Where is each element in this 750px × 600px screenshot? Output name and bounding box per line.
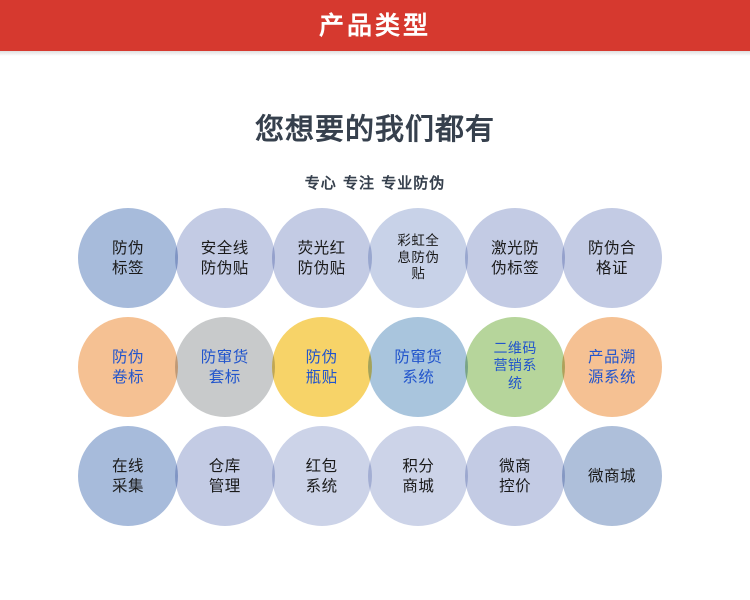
product-circle[interactable]: 防窜货系统	[368, 317, 468, 417]
product-circle[interactable]: 防伪卷标	[78, 317, 178, 417]
product-circle[interactable]: 防窜货套标	[175, 317, 275, 417]
product-circle-label: 仓库管理	[202, 456, 248, 497]
product-circle-label: 激光防伪标签	[484, 238, 546, 279]
product-circle-label: 产品溯源系统	[581, 347, 643, 388]
product-circle[interactable]: 在线采集	[78, 426, 178, 526]
page-title: 您想要的我们都有	[0, 106, 750, 148]
product-circle-label: 彩虹全息防伪贴	[390, 233, 446, 284]
product-circle-label: 荧光红防伪贴	[291, 238, 353, 279]
product-circle-label: 防伪卷标	[105, 347, 151, 388]
product-circle[interactable]: 荧光红防伪贴	[272, 208, 372, 308]
product-circle-label: 微商控价	[492, 456, 538, 497]
product-circle[interactable]: 积分商城	[368, 426, 468, 526]
product-type-poster: 产品类型 您想要的我们都有 专心 专注 专业防伪 防伪标签安全线防伪贴荧光红防伪…	[0, 0, 750, 600]
product-circle-label: 防伪合格证	[581, 238, 643, 279]
product-circle-label: 防窜货套标	[194, 347, 256, 388]
product-circle[interactable]: 激光防伪标签	[465, 208, 565, 308]
product-circle-label: 红包系统	[299, 456, 345, 497]
banner-shadow	[0, 51, 750, 56]
product-circle[interactable]: 防伪瓶贴	[272, 317, 372, 417]
product-circle[interactable]: 微商控价	[465, 426, 565, 526]
product-circle-label: 积分商城	[395, 456, 441, 497]
banner-title: 产品类型	[319, 13, 431, 38]
product-circle-label: 微商城	[581, 466, 643, 486]
product-circle-grid: 防伪标签安全线防伪贴荧光红防伪贴彩虹全息防伪贴激光防伪标签防伪合格证防伪卷标防窜…	[78, 208, 682, 526]
product-circle-label: 在线采集	[105, 456, 151, 497]
product-circle-label: 防伪瓶贴	[299, 347, 345, 388]
product-circle-label: 二维码营销系统	[486, 341, 544, 394]
product-circle[interactable]: 仓库管理	[175, 426, 275, 526]
product-circle-label: 防窜货系统	[387, 347, 449, 388]
header-banner: 产品类型	[0, 0, 750, 51]
product-circle[interactable]: 产品溯源系统	[562, 317, 662, 417]
page-subtitle: 专心 专注 专业防伪	[0, 172, 750, 193]
product-circle[interactable]: 安全线防伪贴	[175, 208, 275, 308]
product-circle[interactable]: 彩虹全息防伪贴	[368, 208, 468, 308]
product-circle-label: 安全线防伪贴	[194, 238, 256, 279]
product-circle-label: 防伪标签	[105, 238, 151, 279]
product-circle[interactable]: 微商城	[562, 426, 662, 526]
product-circle[interactable]: 二维码营销系统	[465, 317, 565, 417]
product-circle[interactable]: 防伪标签	[78, 208, 178, 308]
product-circle[interactable]: 防伪合格证	[562, 208, 662, 308]
product-circle[interactable]: 红包系统	[272, 426, 372, 526]
